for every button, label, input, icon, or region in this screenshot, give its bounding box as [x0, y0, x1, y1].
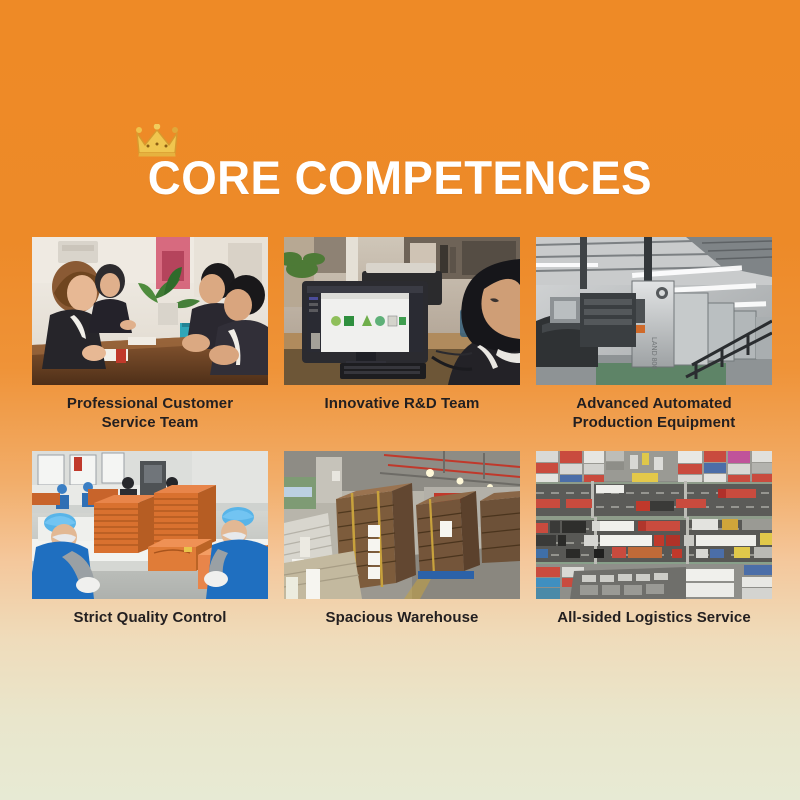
core-competences-banner: CORE COMPETENCES	[0, 0, 800, 800]
grid-row: Strict Quality Control	[32, 451, 768, 627]
card-caption: All-sided Logistics Service	[536, 608, 772, 627]
quality-control-photo[interactable]	[32, 451, 268, 599]
warehouse-photo[interactable]	[284, 451, 520, 599]
competence-card-advanced-automated-production-equipment[interactable]: LAND 800	[536, 237, 772, 432]
competence-card-strict-quality-control[interactable]: Strict Quality Control	[32, 451, 268, 627]
competence-card-innovative-rd-team[interactable]: Innovative R&D Team	[284, 237, 520, 432]
competence-card-spacious-warehouse[interactable]: Spacious Warehouse	[284, 451, 520, 627]
printing-press-photo[interactable]: LAND 800	[536, 237, 772, 385]
grid-row: Professional Customer Service Team	[32, 237, 768, 432]
card-caption: Spacious Warehouse	[284, 608, 520, 627]
page-title: CORE COMPETENCES	[148, 150, 652, 206]
svg-text:LAND 800: LAND 800	[650, 337, 657, 369]
competence-card-professional-customer-service-team[interactable]: Professional Customer Service Team	[32, 237, 268, 432]
competences-grid: Professional Customer Service Team	[32, 237, 768, 627]
competence-card-all-sided-logistics-service[interactable]: All-sided Logistics Service	[536, 451, 772, 627]
meeting-room-photo[interactable]	[32, 237, 268, 385]
card-caption: Advanced Automated Production Equipment	[536, 394, 772, 432]
header: CORE COMPETENCES	[0, 150, 800, 206]
card-caption: Strict Quality Control	[32, 608, 268, 627]
designer-at-computer-photo[interactable]	[284, 237, 520, 385]
logistics-aerial-photo[interactable]	[536, 451, 772, 599]
card-caption: Innovative R&D Team	[284, 394, 520, 413]
card-caption: Professional Customer Service Team	[32, 394, 268, 432]
